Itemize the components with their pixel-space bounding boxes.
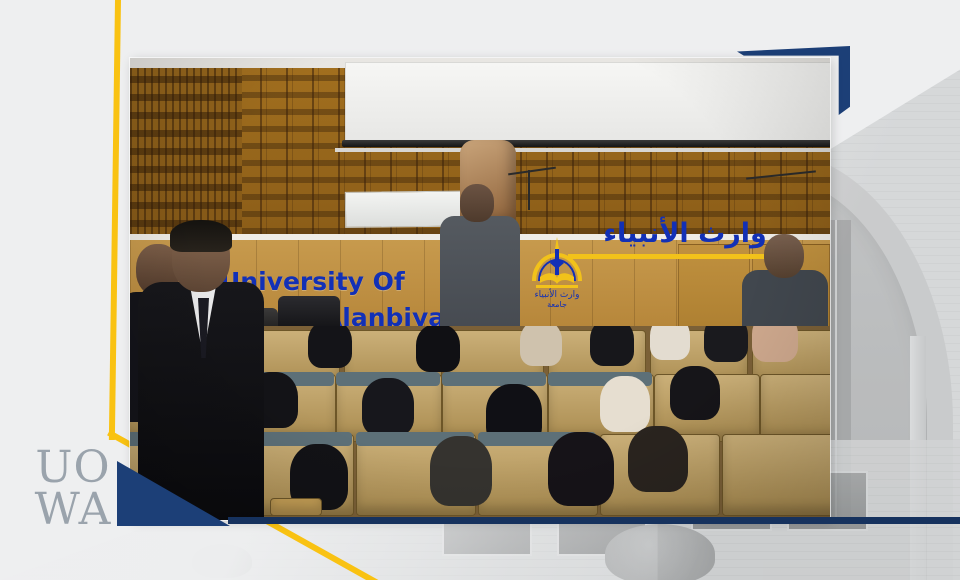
uowa-wordmark-line2: WA <box>30 490 116 530</box>
uowa-wordmark-line1: UO <box>30 448 116 488</box>
building-shrub-1 <box>605 524 715 580</box>
event-photo: وارث الأنبياء جامعة University Of Warith… <box>130 58 830 520</box>
photo-vignette <box>130 58 830 520</box>
yellow-vertical-line <box>109 0 121 440</box>
navy-underline-bar <box>228 517 960 524</box>
uowa-wordmark: UO WA <box>30 448 116 531</box>
building-shrub-2 <box>192 544 252 578</box>
banner-stage: وارث الأنبياء جامعة University Of Warith… <box>0 0 960 580</box>
